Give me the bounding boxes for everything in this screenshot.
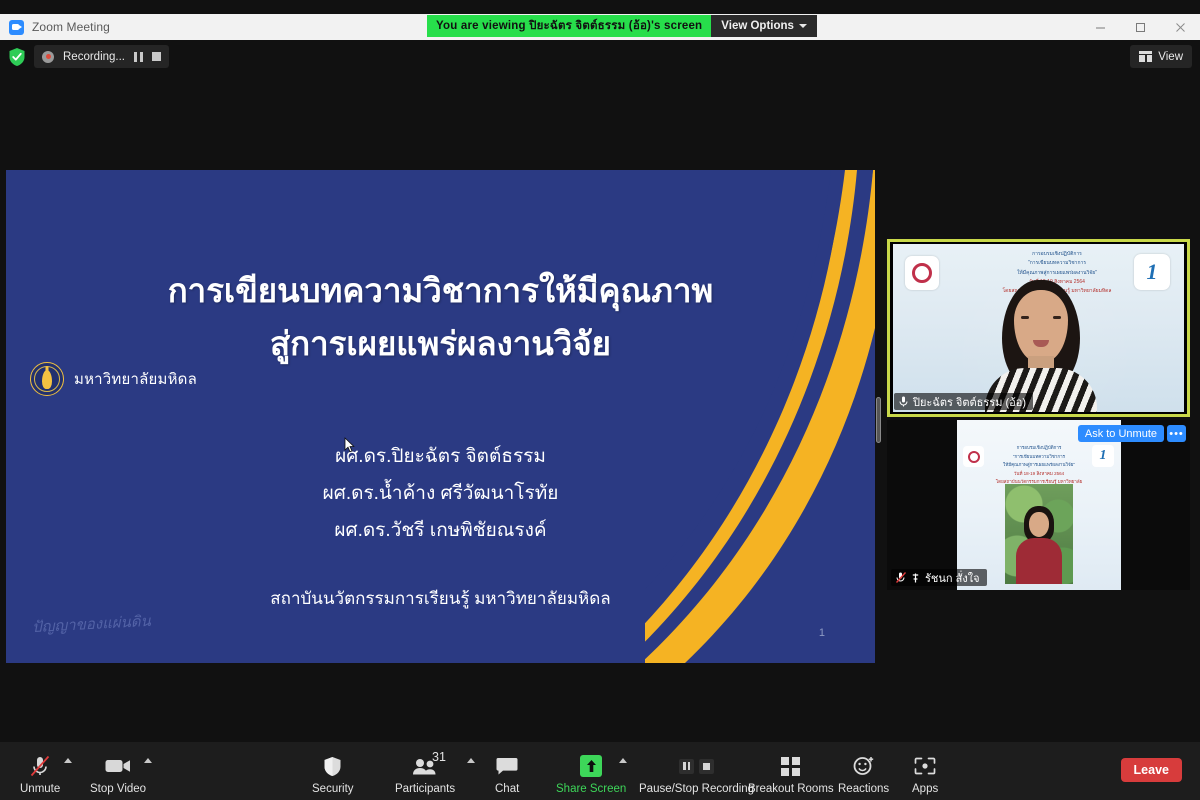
audio-options-chevron-icon[interactable] xyxy=(64,758,72,763)
view-options-label: View Options xyxy=(721,20,794,32)
grid-squares-icon xyxy=(781,754,800,778)
tile2-heading-line1: การอบรมเชิงปฏิบัติการ xyxy=(993,444,1085,453)
smiley-plus-icon xyxy=(853,754,875,778)
screen-share-banner: You are viewing ปิยะฉัตร จิตต์ธรรม (อ้อ)… xyxy=(427,15,817,37)
minimize-icon[interactable] xyxy=(1080,14,1120,40)
unmute-button[interactable]: Unmute xyxy=(20,747,60,795)
pin-icon xyxy=(911,573,920,583)
maximize-icon[interactable] xyxy=(1120,14,1160,40)
slide-title-line2: สู่การเผยแพร่ผลงานวิจัย xyxy=(6,317,875,370)
stop-recording-icon[interactable] xyxy=(152,52,161,61)
shared-screen-slide[interactable]: มหาวิทยาลัยมหิดล การเขียนบทความวิชาการให… xyxy=(6,170,875,663)
meeting-toolbar: Unmute Stop Video Security xyxy=(0,742,1200,800)
video-tile-participant[interactable]: 1 การอบรมเชิงปฏิบัติการ "การเขียนบทความว… xyxy=(887,420,1190,590)
recording-label: Recording... xyxy=(63,51,125,63)
share-options-chevron-icon[interactable] xyxy=(619,758,627,763)
participant-video-feed: 1 การอบรมเชิงปฏิบัติการ "การเขียนบทความว… xyxy=(893,244,1184,412)
slide-number: 1 xyxy=(819,627,825,639)
ask-to-unmute-button[interactable]: Ask to Unmute xyxy=(1078,425,1164,442)
apps-button[interactable]: Apps xyxy=(912,747,938,795)
security-label: Security xyxy=(312,783,354,795)
share-screen-label: Share Screen xyxy=(556,783,626,795)
slide-author-2: ผศ.ดร.น้ำค้าง ศรีวัฒนาโรทัย xyxy=(6,475,875,512)
tile2-heading-line4: วันที่ 18-19 สิงหาคม 2564 xyxy=(993,470,1085,479)
participant-person xyxy=(985,270,1097,412)
mic-icon xyxy=(899,396,908,407)
record-dot-icon xyxy=(42,51,54,63)
tile-name-badge: ปิยะฉัตร จิตต์ธรรม (อ้อ) xyxy=(894,393,1033,410)
share-banner-text: You are viewing ปิยะฉัตร จิตต์ธรรม (อ้อ)… xyxy=(427,15,711,37)
video-tile-active-speaker[interactable]: 1 การอบรมเชิงปฏิบัติการ "การเขียนบทความว… xyxy=(887,239,1190,417)
zoom-app-icon xyxy=(9,20,24,35)
recording-label: Pause/Stop Recording xyxy=(639,783,754,795)
leave-button[interactable]: Leave xyxy=(1121,758,1182,782)
view-button[interactable]: View xyxy=(1130,45,1192,68)
tile-name-text: รัชนก สั่งใจ xyxy=(925,569,980,587)
security-button[interactable]: Security xyxy=(312,747,354,795)
stop-video-label: Stop Video xyxy=(90,783,146,795)
pause-stop-recording-button[interactable]: Pause/Stop Recording xyxy=(639,747,754,795)
recording-indicator-bar: Recording... xyxy=(34,45,169,68)
breakout-rooms-button[interactable]: Breakout Rooms xyxy=(748,747,834,795)
slide-author-3: ผศ.ดร.วัชรี เกษพิชัยณรงค์ xyxy=(6,512,875,549)
overlay-logo-right-icon: 1 xyxy=(1134,254,1170,290)
zoom-meeting-window: Zoom Meeting You are viewing ปิยะฉัตร จิ… xyxy=(0,0,1200,800)
view-options-button[interactable]: View Options xyxy=(711,15,817,37)
tile1-heading-line2: "การเขียนบทความวิชาการ xyxy=(997,259,1117,268)
pause-recording-icon[interactable] xyxy=(134,52,143,62)
security-shield-icon[interactable] xyxy=(8,47,26,67)
slide-authors: ผศ.ดร.ปิยะฉัตร จิตต์ธรรม ผศ.ดร.น้ำค้าง ศ… xyxy=(6,438,875,549)
layout-grid-icon xyxy=(1139,51,1152,62)
pause-icon[interactable] xyxy=(679,759,694,774)
overlay-logo-right-icon: 1 xyxy=(1092,445,1114,467)
overlay-logo-left-icon xyxy=(963,446,984,467)
chat-button[interactable]: Chat xyxy=(495,747,519,795)
participants-label: Participants xyxy=(395,783,455,795)
chat-label: Chat xyxy=(495,783,519,795)
chat-bubble-icon xyxy=(496,754,518,778)
unmute-label: Unmute xyxy=(20,783,60,795)
slide-author-1: ผศ.ดร.ปิยะฉัตร จิตต์ธรรม xyxy=(6,438,875,475)
breakout-rooms-label: Breakout Rooms xyxy=(748,783,834,795)
tile2-heading-line2: "การเขียนบทความวิชาการ xyxy=(993,453,1085,462)
filmstrip-drag-handle[interactable] xyxy=(876,397,881,443)
slide-title: การเขียนบทความวิชาการให้มีคุณภาพ สู่การเ… xyxy=(6,264,875,371)
window-title: Zoom Meeting xyxy=(32,20,110,34)
mouse-cursor xyxy=(344,437,355,458)
slide-organization: สถาบันนวัตกรรมการเรียนรู้ มหาวิทยาลัยมหิ… xyxy=(6,585,875,612)
tile-more-options-button[interactable]: ••• xyxy=(1167,425,1186,442)
chevron-down-icon xyxy=(799,24,807,28)
tile-name-text: ปิยะฉัตร จิตต์ธรรม (อ้อ) xyxy=(913,393,1026,411)
tile-name-badge: รัชนก สั่งใจ xyxy=(891,569,987,586)
participants-options-chevron-icon[interactable] xyxy=(467,758,475,763)
recording-controls-icon xyxy=(679,754,714,778)
share-arrow-up-icon xyxy=(580,754,602,778)
view-button-label: View xyxy=(1158,51,1183,63)
microphone-muted-icon xyxy=(30,754,50,778)
mic-off-icon xyxy=(896,572,906,583)
participant-video-feed: 1 การอบรมเชิงปฏิบัติการ "การเขียนบทความว… xyxy=(957,420,1121,590)
tile2-heading-line3: ให้มีคุณภาพสู่การเผยแพร่ผลงานวิจัย" xyxy=(993,461,1085,470)
reactions-button[interactable]: Reactions xyxy=(838,747,889,795)
slide-title-line1: การเขียนบทความวิชาการให้มีคุณภาพ xyxy=(6,264,875,317)
participants-count: 31 xyxy=(432,750,446,764)
apps-label: Apps xyxy=(912,783,938,795)
shield-icon xyxy=(323,754,342,778)
video-camera-icon xyxy=(105,754,131,778)
apps-bracket-icon xyxy=(914,754,936,778)
close-icon[interactable] xyxy=(1160,14,1200,40)
stop-icon[interactable] xyxy=(699,759,714,774)
tile1-heading-line1: การอบรมเชิงปฏิบัติการ xyxy=(997,250,1117,259)
share-screen-button[interactable]: Share Screen xyxy=(556,747,626,795)
participants-button[interactable]: Participants xyxy=(395,747,455,795)
participant-photo xyxy=(1005,484,1073,584)
stop-video-button[interactable]: Stop Video xyxy=(90,747,146,795)
window-controls xyxy=(1080,14,1200,40)
video-options-chevron-icon[interactable] xyxy=(144,758,152,763)
reactions-label: Reactions xyxy=(838,783,889,795)
slide-watermark: ปัญญาของแผ่นดิน xyxy=(31,609,151,639)
overlay-logo-left-icon xyxy=(905,256,939,290)
